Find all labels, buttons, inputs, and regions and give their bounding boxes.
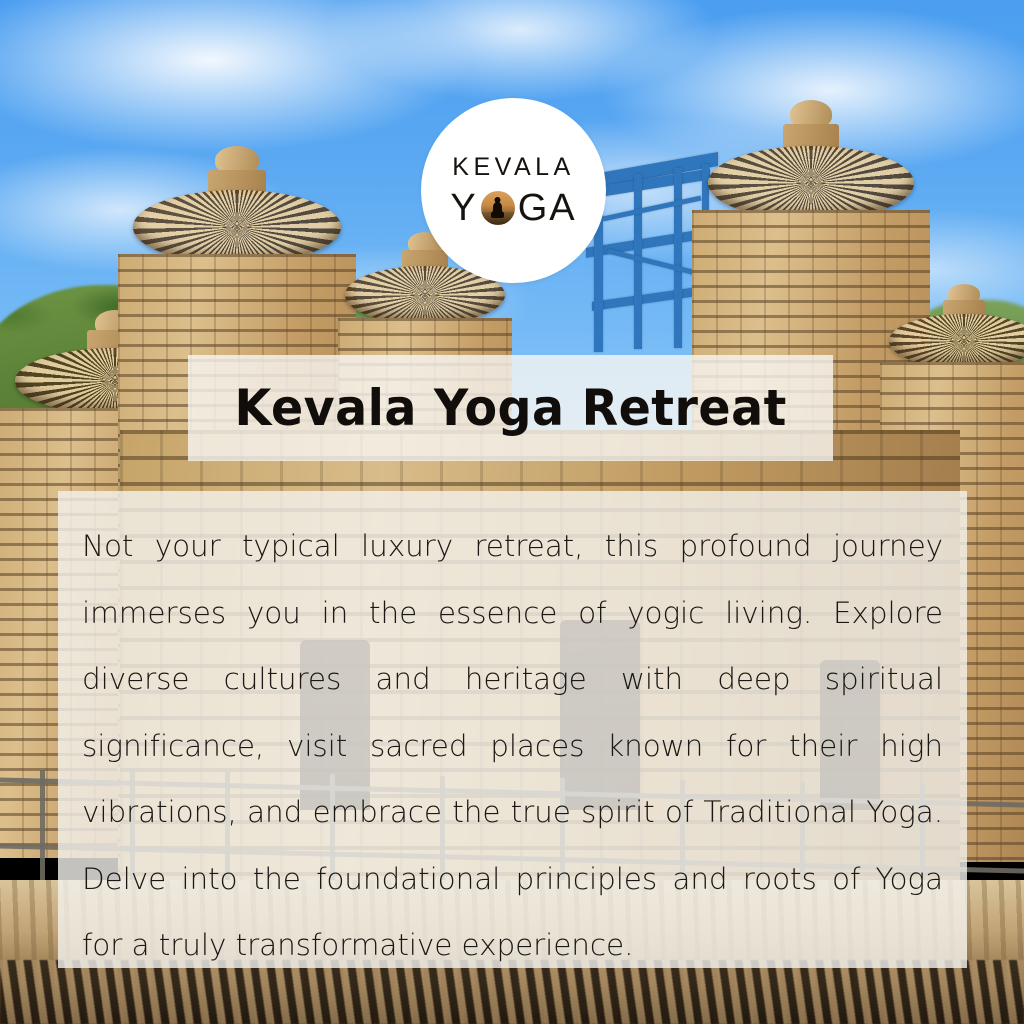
meditating-figure-icon: [481, 191, 515, 225]
figure-silhouette: [492, 197, 503, 218]
logo-letters-ga: GA: [518, 189, 577, 227]
poster-canvas: KEVALA Y GA Kevala Yoga Retreat Not your…: [0, 0, 1024, 1024]
amalaka-disc: [889, 314, 1024, 368]
logo-wordmark-kevala: KEVALA: [452, 155, 574, 180]
amalaka-disc: [133, 190, 341, 264]
logo-wordmark-yoga: Y GA: [450, 189, 576, 227]
page-title: Kevala Yoga Retreat: [234, 379, 786, 437]
scaffold-post-3: [674, 168, 682, 348]
amalaka-disc: [708, 146, 914, 220]
description-panel: Not your typical luxury retreat, this pr…: [58, 491, 967, 968]
logo-letter-y: Y: [450, 189, 477, 227]
figure-legs: [491, 211, 504, 218]
description-paragraph: Not your typical luxury retreat, this pr…: [82, 513, 943, 979]
title-band: Kevala Yoga Retreat: [188, 355, 833, 461]
kevala-yoga-logo[interactable]: KEVALA Y GA: [421, 98, 606, 283]
